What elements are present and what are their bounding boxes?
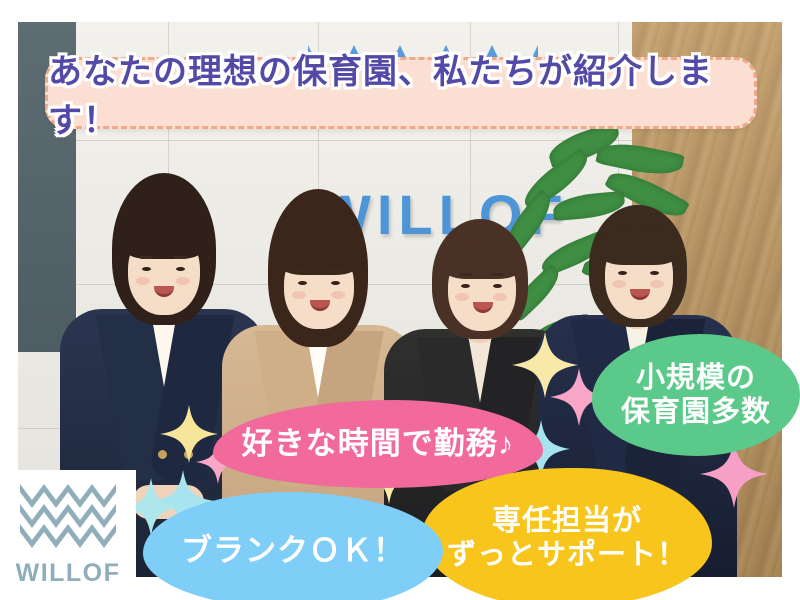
bubble-yellow-line-1: 専任担当が xyxy=(447,504,687,538)
bubble-dedicated-support: 専任担当が ずっとサポート！ xyxy=(422,468,712,600)
willof-wordmark: WILLOF xyxy=(16,559,121,588)
ad-banner-canvas: WILLOF xyxy=(0,0,800,600)
willof-zigzag-icon xyxy=(20,482,116,553)
bubble-yellow-line-2: ずっとサポート！ xyxy=(447,538,687,572)
bubble-blue-line-1: ブランクＯＫ！ xyxy=(181,533,405,570)
headline-banner: あなたの理想の保育園、私たちが紹介します！ xyxy=(45,57,757,129)
bubble-green-line-1: 小規模の xyxy=(621,361,771,395)
headline-text: あなたの理想の保育園、私たちが紹介します！ xyxy=(48,44,754,142)
bubble-pink-line-1: 好きな時間で勤務♪ xyxy=(242,426,515,463)
bubble-small-nurseries: 小規模の 保育園多数 xyxy=(592,334,800,456)
bubble-green-line-2: 保育園多数 xyxy=(621,395,771,429)
willof-logo: WILLOF xyxy=(0,470,136,600)
